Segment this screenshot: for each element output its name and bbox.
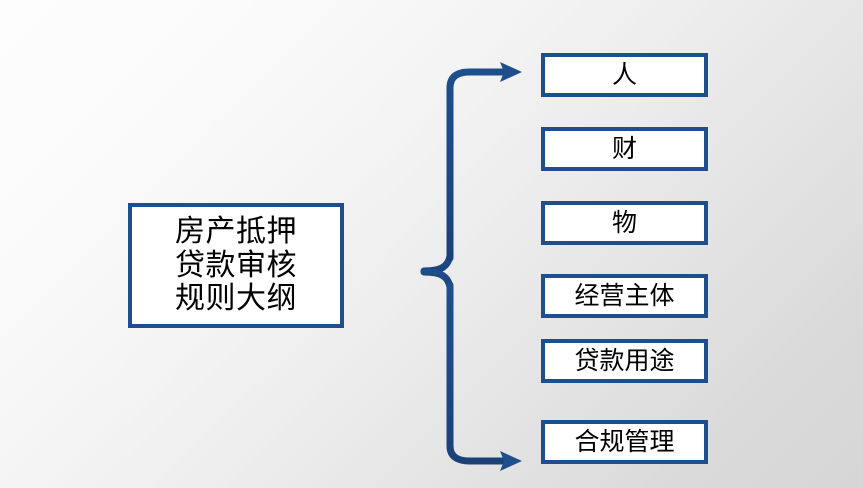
root-node-label: 房产抵押 贷款审核 规则大纲 [175, 215, 297, 316]
branch-node-ren[interactable]: 人 [541, 53, 708, 97]
connector-branch-top [450, 72, 505, 258]
connector-junction-lower [424, 272, 450, 287]
branch-node-hegui-guanli[interactable]: 合规管理 [541, 420, 708, 464]
branch-node-label: 贷款用途 [574, 347, 674, 375]
branch-node-cai[interactable]: 财 [541, 127, 708, 171]
connector-branch-bottom [450, 285, 505, 461]
root-node[interactable]: 房产抵押 贷款审核 规则大纲 [128, 203, 344, 328]
branch-node-label: 合规管理 [574, 428, 674, 456]
branch-node-label: 经营主体 [574, 282, 674, 310]
arrowhead-bottom-icon [500, 451, 522, 471]
connector-junction-upper [424, 256, 450, 271]
slide-canvas: 房产抵押 贷款审核 规则大纲 人 财 物 经营主体 贷款用途 合规管理 [0, 0, 863, 488]
branch-node-label: 物 [612, 209, 637, 237]
branch-node-daikuan-yongtu[interactable]: 贷款用途 [541, 339, 708, 383]
arrowhead-top-icon [500, 62, 522, 82]
branch-node-wu[interactable]: 物 [541, 201, 708, 245]
branch-node-label: 财 [612, 135, 637, 163]
branch-node-label: 人 [612, 61, 637, 89]
branch-node-jingying-zhuti[interactable]: 经营主体 [541, 274, 708, 318]
